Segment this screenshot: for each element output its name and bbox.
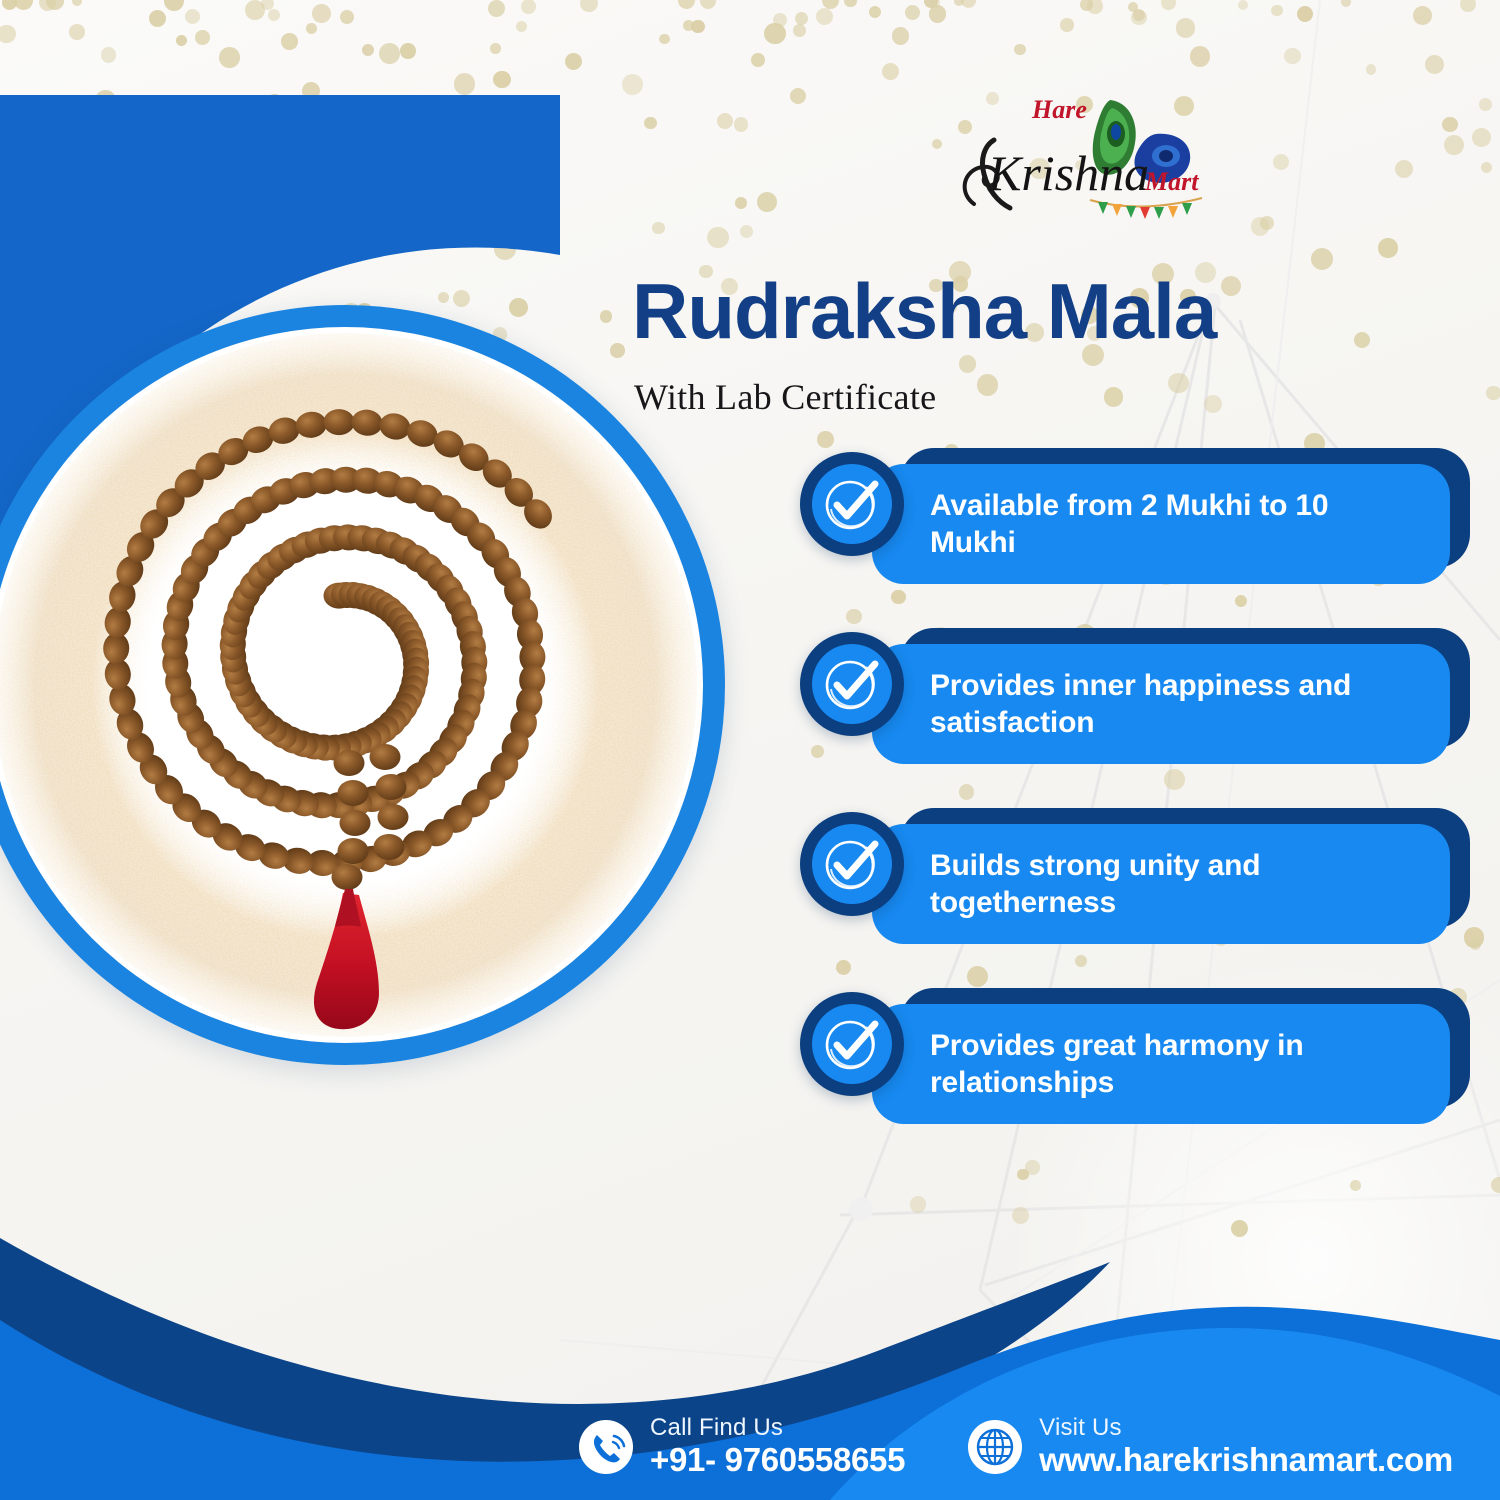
contact-visit[interactable]: Visit Us www.harekrishnamart.com bbox=[967, 1415, 1453, 1478]
background-dot bbox=[72, 0, 83, 6]
logo-hare-text: Hare bbox=[1031, 95, 1087, 124]
globe-icon bbox=[967, 1419, 1023, 1475]
background-dot bbox=[1341, 0, 1351, 7]
logo-krishna-text: Krishna bbox=[987, 145, 1149, 201]
mala-bead bbox=[338, 838, 369, 864]
background-dot bbox=[678, 0, 696, 9]
product-photo-ring bbox=[0, 305, 725, 1065]
background-dot bbox=[1238, 0, 1248, 10]
background-dot bbox=[1444, 135, 1464, 155]
background-dot bbox=[490, 43, 501, 54]
background-dot bbox=[580, 0, 597, 12]
background-dot bbox=[1460, 0, 1476, 12]
background-dot bbox=[795, 12, 808, 25]
background-dot bbox=[149, 10, 166, 27]
page-title: Rudraksha Mala bbox=[632, 272, 1216, 350]
check-circle-icon bbox=[800, 632, 904, 736]
background-dot bbox=[751, 53, 765, 67]
background-dot bbox=[379, 43, 400, 64]
background-dot bbox=[1425, 55, 1444, 74]
background-dot bbox=[622, 74, 643, 95]
background-dot bbox=[1297, 6, 1313, 22]
check-circle-icon bbox=[800, 812, 904, 916]
feature-pill[interactable]: Provides inner happiness and satisfactio… bbox=[872, 644, 1450, 764]
background-dot bbox=[892, 27, 909, 44]
check-circle-icon bbox=[800, 452, 904, 556]
background-dot bbox=[1161, 0, 1176, 10]
background-dot bbox=[1014, 44, 1025, 55]
background-dot bbox=[1060, 18, 1074, 32]
background-dot bbox=[1366, 64, 1376, 74]
background-dot bbox=[1260, 216, 1274, 230]
feature-label: Available from 2 Mukhi to 10 Mukhi bbox=[872, 487, 1450, 562]
page-subtitle: With Lab Certificate bbox=[634, 376, 936, 418]
check-circle-icon bbox=[800, 992, 904, 1096]
background-dot bbox=[1354, 332, 1370, 348]
background-dot bbox=[195, 30, 210, 45]
background-dot bbox=[790, 88, 806, 104]
contact-visit-value[interactable]: www.harekrishnamart.com bbox=[1039, 1442, 1453, 1478]
feature-pill[interactable]: Provides great harmony in relationships bbox=[872, 1004, 1450, 1124]
feature-list: Available from 2 Mukhi to 10 Mukhi Provi… bbox=[790, 440, 1470, 1160]
feature-item[interactable]: Available from 2 Mukhi to 10 Mukhi bbox=[790, 440, 1470, 620]
footer-contact-bar: Call Find Us +91- 9760558655 Visit Us ww… bbox=[0, 1380, 1500, 1500]
mala-bead bbox=[370, 744, 401, 770]
background-dot bbox=[454, 73, 476, 95]
background-dot bbox=[185, 9, 200, 24]
product-image-area bbox=[0, 95, 780, 1185]
background-dot bbox=[1273, 154, 1289, 170]
mala-bead bbox=[324, 409, 355, 435]
contact-call-value[interactable]: +91- 9760558655 bbox=[650, 1442, 905, 1478]
background-dot bbox=[1284, 48, 1300, 64]
mala-bead bbox=[334, 750, 365, 776]
background-dot bbox=[905, 5, 921, 21]
background-dot bbox=[219, 47, 239, 67]
background-dot bbox=[1190, 46, 1210, 66]
background-dot bbox=[764, 23, 786, 45]
contact-call-label: Call Find Us bbox=[650, 1415, 905, 1441]
product-photo bbox=[0, 327, 703, 1043]
background-dot bbox=[816, 8, 833, 25]
background-dot bbox=[565, 53, 582, 70]
background-dot bbox=[69, 24, 85, 40]
background-dot bbox=[46, 0, 64, 10]
mala-bead bbox=[332, 864, 363, 890]
background-dot bbox=[1271, 5, 1282, 16]
mala-tassel bbox=[314, 889, 379, 1029]
rudraksha-mala-beads bbox=[0, 327, 703, 1043]
background-dot bbox=[869, 6, 882, 19]
mala-bead bbox=[374, 834, 405, 860]
mala-bead bbox=[377, 410, 413, 443]
feature-item[interactable]: Provides inner happiness and satisfactio… bbox=[790, 620, 1470, 800]
background-dot bbox=[844, 0, 856, 7]
mala-bead bbox=[294, 410, 328, 439]
feature-label: Provides inner happiness and satisfactio… bbox=[872, 667, 1450, 742]
phone-icon bbox=[578, 1419, 634, 1475]
background-dot bbox=[1491, 1177, 1500, 1194]
background-dot bbox=[164, 0, 185, 11]
background-dot bbox=[1395, 160, 1413, 178]
background-dot bbox=[1378, 238, 1398, 258]
background-dot bbox=[929, 5, 946, 22]
background-dot bbox=[959, 355, 977, 373]
bunting-decoration bbox=[1090, 198, 1202, 219]
background-dot bbox=[281, 33, 298, 50]
mala-bead bbox=[378, 804, 409, 830]
mala-bead bbox=[376, 774, 407, 800]
feature-pill[interactable]: Available from 2 Mukhi to 10 Mukhi bbox=[872, 464, 1450, 584]
background-dot bbox=[1311, 248, 1333, 270]
background-dot bbox=[1221, 276, 1241, 296]
contact-call[interactable]: Call Find Us +91- 9760558655 bbox=[578, 1415, 905, 1478]
background-dot bbox=[1350, 1180, 1361, 1191]
mala-bead bbox=[350, 408, 384, 437]
mala-bead bbox=[338, 780, 369, 806]
background-dot bbox=[488, 0, 505, 17]
background-dot bbox=[101, 47, 116, 62]
contact-visit-label: Visit Us bbox=[1039, 1415, 1453, 1441]
background-dot bbox=[516, 21, 527, 32]
background-dot bbox=[1176, 18, 1195, 37]
mala-bead bbox=[340, 810, 371, 836]
background-dot bbox=[1442, 117, 1458, 133]
feature-item[interactable]: Provides great harmony in relationships bbox=[790, 980, 1470, 1160]
background-dot bbox=[493, 71, 511, 89]
logo-mart-text: Mart bbox=[1144, 167, 1199, 196]
background-dot bbox=[362, 44, 374, 56]
background-dot bbox=[1168, 373, 1188, 393]
background-dot bbox=[700, 0, 716, 9]
background-dot bbox=[312, 4, 331, 23]
feature-label: Builds strong unity and togetherness bbox=[872, 847, 1450, 922]
background-dot bbox=[1481, 162, 1492, 173]
background-dot bbox=[793, 24, 806, 37]
background-dot bbox=[659, 34, 670, 45]
background-dot bbox=[0, 25, 16, 44]
background-dot bbox=[521, 0, 536, 14]
background-dot bbox=[1486, 386, 1500, 401]
background-dot bbox=[14, 0, 33, 10]
background-dot bbox=[1017, 1169, 1028, 1180]
background-dot bbox=[176, 35, 187, 46]
background-dot bbox=[268, 9, 280, 21]
feature-pill[interactable]: Builds strong unity and togetherness bbox=[872, 824, 1450, 944]
background-dot bbox=[1104, 387, 1123, 406]
poster-canvas: Hare Krishna Mart Rudraksha Mala With La… bbox=[0, 0, 1500, 1500]
background-dot bbox=[1204, 395, 1222, 413]
background-dot bbox=[1472, 128, 1491, 147]
background-dot bbox=[882, 63, 899, 80]
background-dot bbox=[340, 10, 354, 24]
background-dot bbox=[977, 374, 998, 395]
background-dot bbox=[400, 43, 416, 59]
feature-item[interactable]: Builds strong unity and togetherness bbox=[790, 800, 1470, 980]
brand-logo[interactable]: Hare Krishna Mart bbox=[940, 82, 1240, 222]
background-dot bbox=[961, 0, 976, 8]
background-dot bbox=[1413, 6, 1432, 25]
background-dot bbox=[1479, 98, 1492, 111]
background-dot bbox=[306, 23, 317, 34]
feature-label: Provides great harmony in relationships bbox=[872, 1027, 1450, 1102]
